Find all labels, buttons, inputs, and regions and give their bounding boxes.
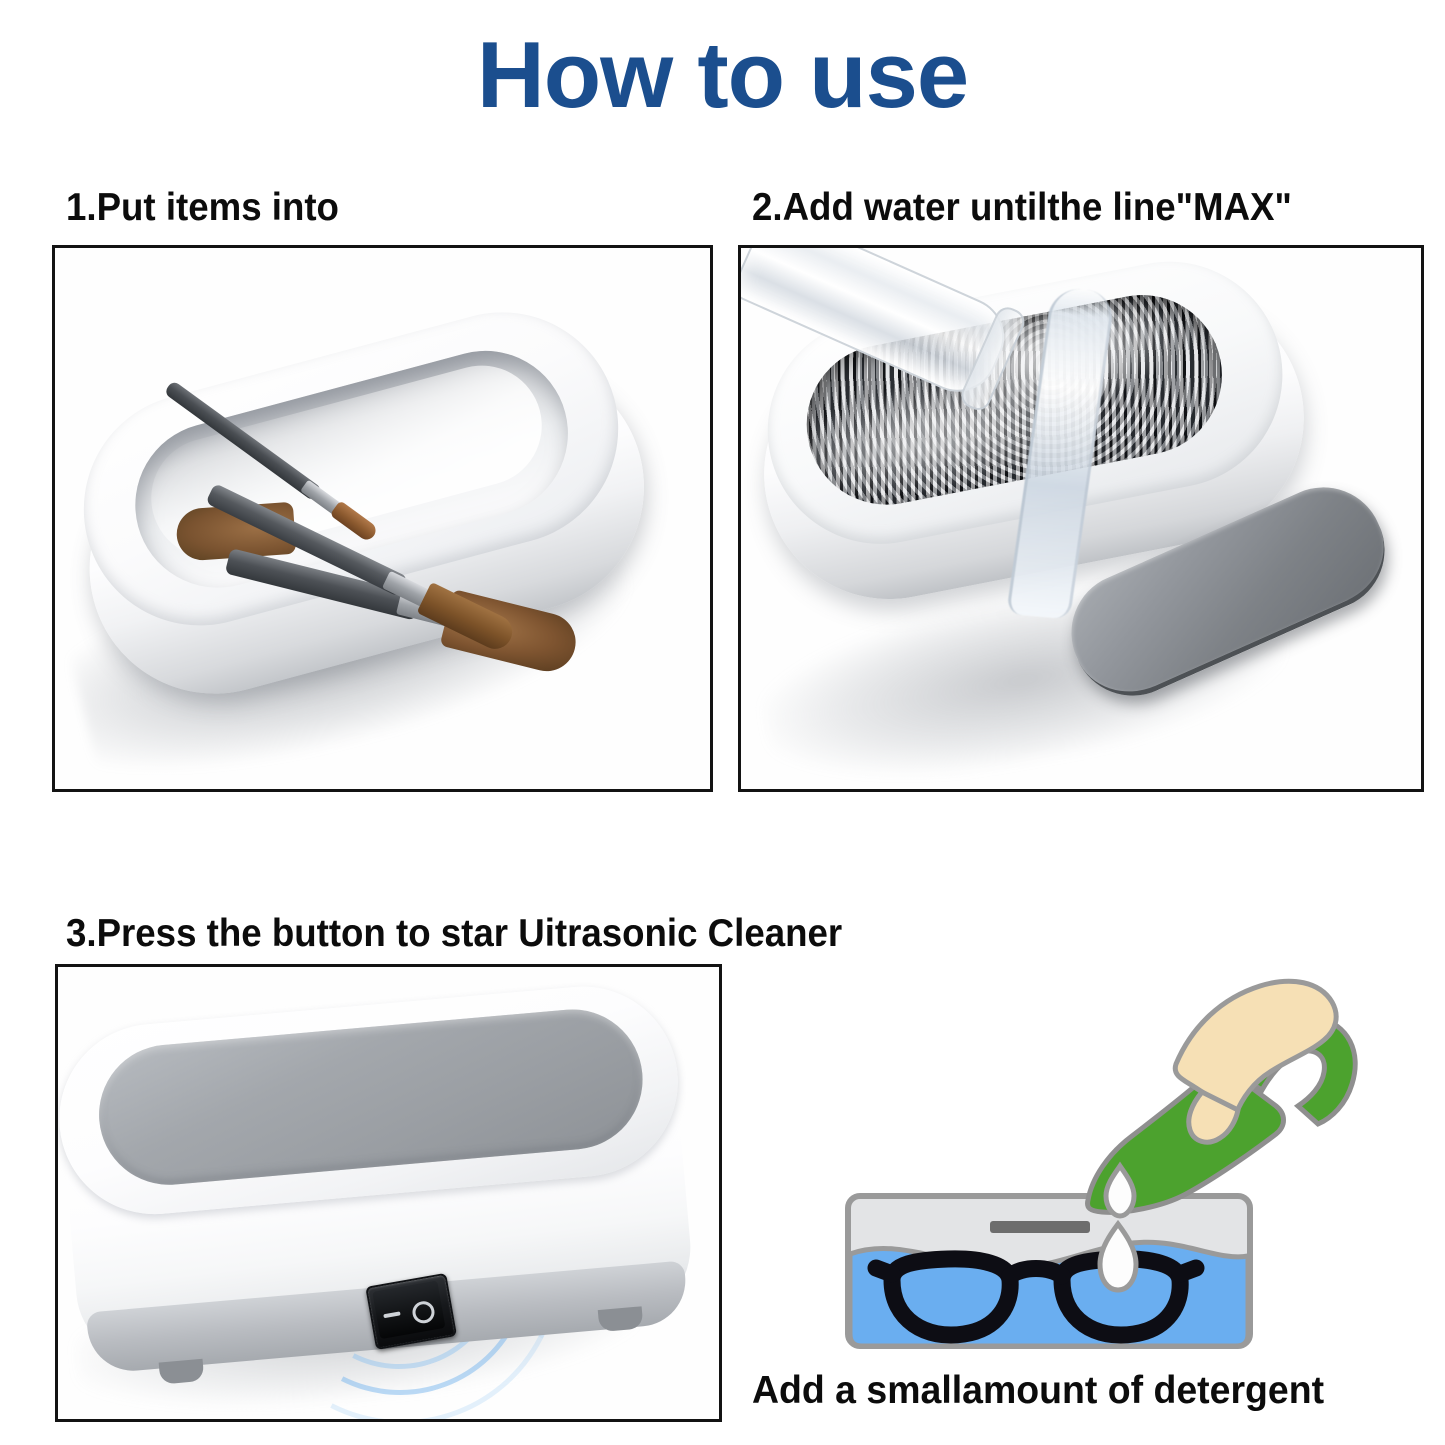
detergent-caption: Add a smallamount of detergent: [752, 1369, 1324, 1413]
brush-handle: [164, 380, 323, 502]
infographic-page: How to use 1.Put items into: [0, 0, 1445, 1445]
step-1-photo-frame: [52, 245, 713, 792]
device-foot: [598, 1306, 644, 1332]
step-1-heading: 1.Put items into: [66, 186, 339, 230]
makeup-brush-group: [55, 248, 710, 789]
step-3-photo-frame: [55, 964, 722, 1422]
page-title: How to use: [0, 26, 1445, 125]
device-foot: [159, 1359, 205, 1385]
detergent-illustration: [840, 968, 1400, 1358]
rocker-face: [372, 1280, 445, 1339]
step-2-photo-frame: [738, 245, 1424, 792]
step-1-photo: [55, 248, 710, 789]
brush-bristles: [330, 500, 379, 543]
step-3-heading: 3.Press the button to star Uitrasonic Cl…: [66, 912, 842, 956]
step-3-photo: [58, 967, 719, 1419]
ultrasonic-cleaner-closed: [55, 979, 701, 1392]
step-2-photo: [741, 248, 1421, 789]
max-line-marking: [990, 1221, 1090, 1233]
step-2-heading: 2.Add water untilthe line"MAX": [752, 186, 1292, 230]
